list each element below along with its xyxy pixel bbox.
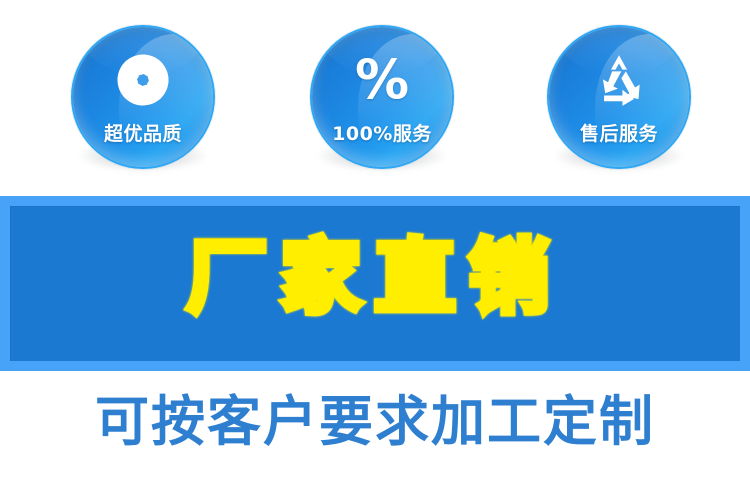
badge-row: 超优品质 % 100%服务 bbox=[0, 0, 750, 196]
badge-aftersales[interactable]: 售后服务 bbox=[546, 24, 692, 170]
badge-disc: 售后服务 bbox=[549, 27, 689, 167]
percent-glyph: % bbox=[355, 53, 409, 107]
percent-icon: % bbox=[312, 49, 452, 111]
badge-disc: % 100%服务 bbox=[312, 27, 452, 167]
badge-label-aftersales: 售后服务 bbox=[549, 119, 689, 146]
aperture-icon bbox=[73, 49, 213, 111]
recycle-icon bbox=[549, 49, 689, 111]
headline-text: 厂家直销 bbox=[10, 238, 740, 318]
headline-banner: 厂家直销 bbox=[0, 196, 750, 371]
badge-service[interactable]: % 100%服务 bbox=[309, 24, 455, 170]
badge-disc: 超优品质 bbox=[73, 27, 213, 167]
badge-label-quality: 超优品质 bbox=[73, 119, 213, 146]
headline-banner-panel: 厂家直销 bbox=[10, 206, 740, 361]
badge-quality[interactable]: 超优品质 bbox=[70, 24, 216, 170]
tagline-text: 可按客户要求加工定制 bbox=[0, 392, 750, 451]
promo-banner-page: 超优品质 % 100%服务 bbox=[0, 0, 750, 500]
badge-label-service: 100%服务 bbox=[312, 119, 452, 146]
